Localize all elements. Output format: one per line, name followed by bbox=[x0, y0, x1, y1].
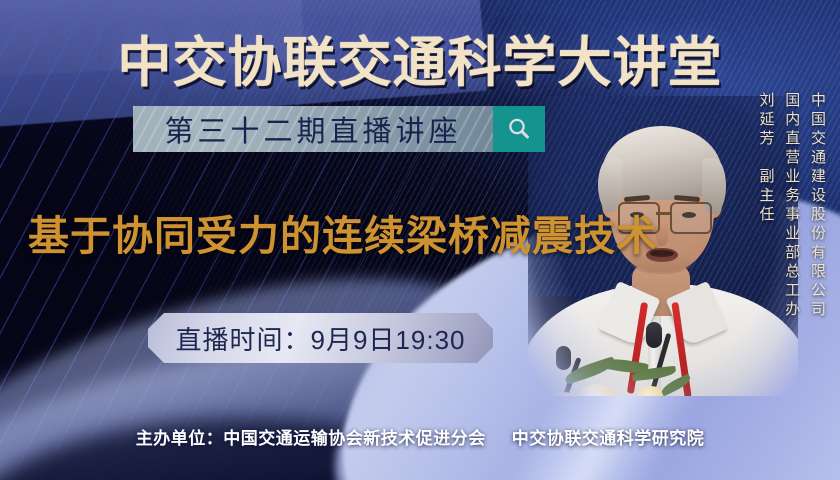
photo-microphone-head-1 bbox=[646, 322, 662, 348]
broadcast-time-badge: 直播时间：9月9日19:30 bbox=[148, 313, 493, 363]
broadcast-time-text: 直播时间：9月9日19:30 bbox=[176, 320, 466, 357]
photo-glasses-right-lens bbox=[670, 202, 712, 234]
live-lecture-poster: 中交协联交通科学大讲堂 第三十二期直播讲座 基于协同受力的连续梁桥减震技术 直播… bbox=[0, 0, 840, 480]
footer-organizers: 主办单位：中国交通运输协会新技术促进分会中交协联交通科学研究院 bbox=[0, 424, 840, 449]
photo-glasses-bridge bbox=[656, 212, 670, 215]
search-icon bbox=[506, 116, 532, 142]
search-button[interactable] bbox=[493, 106, 545, 152]
episode-banner-body: 第三十二期直播讲座 bbox=[133, 106, 493, 152]
lecture-topic-headline: 基于协同受力的连续梁桥减震技术 bbox=[28, 202, 658, 262]
speaker-title: 副主任 bbox=[758, 168, 775, 225]
footer-organizer-1: 中国交通运输协会新技术促进分会 bbox=[223, 429, 486, 448]
speaker-department: 国内直营业务事业部总工办 bbox=[775, 92, 801, 320]
episode-label: 第三十二期直播讲座 bbox=[164, 108, 461, 150]
speaker-name: 刘延芳 bbox=[758, 92, 775, 149]
speaker-credentials: 刘延芳 副主任 国内直营业务事业部总工办 中国交通建设股份有限公司 bbox=[747, 92, 826, 320]
page-title: 中交协联交通科学大讲堂 bbox=[0, 18, 840, 97]
episode-banner: 第三十二期直播讲座 bbox=[133, 106, 545, 152]
footer-organizer-2: 中交协联交通科学研究院 bbox=[512, 429, 705, 448]
photo-flower-arrangement bbox=[528, 358, 740, 396]
speaker-company: 中国交通建设股份有限公司 bbox=[800, 92, 826, 320]
footer-prefix: 主办单位： bbox=[136, 429, 224, 448]
speaker-name-title: 刘延芳 副主任 bbox=[747, 92, 775, 225]
